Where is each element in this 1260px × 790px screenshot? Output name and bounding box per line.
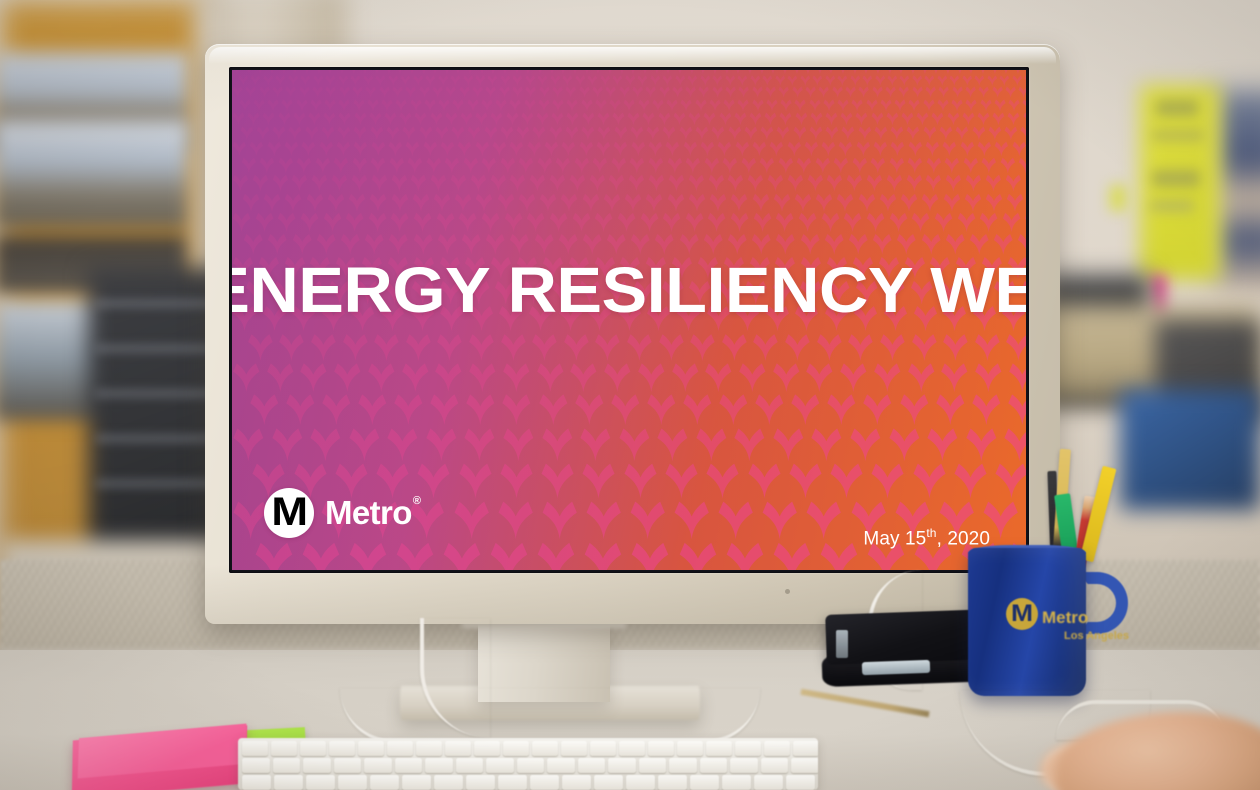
chevron-icon (549, 126, 563, 140)
chevron-icon (549, 174, 566, 192)
keyboard-key[interactable] (608, 758, 636, 773)
chevron-icon (1008, 99, 1020, 112)
chevron-icon (552, 99, 564, 112)
keyboard-key[interactable] (786, 775, 815, 790)
keyboard-key[interactable] (416, 741, 442, 756)
chevron-icon (642, 112, 655, 126)
chevron-icon (751, 233, 772, 255)
keyboard-key[interactable] (274, 775, 303, 790)
keyboard-key[interactable] (690, 775, 719, 790)
chevron-icon (772, 427, 805, 461)
chevron-icon (650, 75, 661, 86)
chevron-icon (267, 233, 288, 255)
chevron-icon (630, 126, 644, 140)
chevron-icon (460, 112, 473, 126)
chevron-icon (753, 212, 772, 232)
keyboard-key[interactable] (395, 758, 423, 773)
chevron-icon (744, 126, 758, 140)
chevron-icon (1020, 126, 1026, 140)
metro-m-glyph: M (272, 492, 306, 532)
chevron-icon (916, 112, 929, 126)
chevron-icon (470, 174, 487, 192)
chevron-icon (648, 174, 665, 192)
chevron-icon (351, 174, 368, 192)
chevron-icon (502, 362, 531, 392)
chevron-icon (818, 86, 829, 98)
chevron-icon (423, 141, 438, 156)
keyboard-key[interactable] (578, 758, 606, 773)
chevron-icon (1018, 157, 1026, 174)
chevron-icon (271, 427, 304, 461)
chevron-icon (815, 157, 831, 174)
chevron-icon (659, 86, 670, 98)
chevron-icon (292, 233, 313, 255)
chevron-icon (555, 157, 571, 174)
chevron-icon (267, 99, 279, 112)
chevron-icon (648, 157, 664, 174)
chevron-icon (539, 193, 557, 212)
chevron-icon (945, 174, 962, 192)
chevron-icon (331, 174, 348, 192)
chevron-icon (896, 70, 906, 74)
registered-trademark-icon: ® (413, 495, 421, 507)
chevron-icon (388, 75, 399, 86)
chevron-icon (885, 70, 895, 74)
chevron-icon (776, 126, 790, 140)
chevron-icon (849, 427, 882, 461)
chevron-icon (592, 157, 608, 174)
chevron-icon (810, 427, 843, 461)
keyboard-key[interactable] (594, 775, 623, 790)
chevron-icon (232, 174, 249, 192)
keyboard-key[interactable] (754, 775, 783, 790)
chevron-icon (1012, 141, 1026, 156)
mug-wordmark: Metro (1042, 608, 1088, 628)
keyboard-key[interactable] (486, 758, 514, 773)
chevron-icon (890, 126, 904, 140)
keyboard-key[interactable] (761, 758, 789, 773)
chevron-icon (688, 112, 701, 126)
chevron-icon (414, 112, 427, 126)
chevron-icon (843, 212, 862, 232)
chevron-icon (908, 99, 920, 112)
monitor-inner-frame: ENERGY RESILIENCY WEBCAST M Metro® May 1… (229, 67, 1029, 573)
keyboard-key[interactable] (242, 758, 270, 773)
chevron-icon (603, 362, 632, 392)
chevron-icon (582, 112, 595, 126)
chevron-icon (357, 393, 388, 425)
chevron-icon (870, 462, 905, 499)
chevron-icon (985, 193, 1003, 212)
chevron-icon (727, 174, 744, 192)
chevron-icon (829, 462, 864, 499)
chevron-icon (450, 174, 467, 192)
chevron-icon (880, 99, 892, 112)
keyboard-key[interactable] (561, 741, 587, 756)
chevron-icon (581, 462, 616, 499)
chevron-icon (705, 462, 740, 499)
chevron-icon (775, 233, 796, 255)
chevron-icon (708, 174, 725, 192)
chevron-icon (490, 174, 507, 192)
chevron-icon (648, 141, 663, 156)
chevron-icon (525, 86, 536, 98)
chevron-icon (481, 157, 497, 174)
chevron-icon (323, 112, 336, 126)
chevron-icon (778, 157, 794, 174)
keyboard-key[interactable] (334, 758, 362, 773)
chevron-icon (873, 141, 888, 156)
chevron-icon (703, 112, 716, 126)
chevron-row (232, 393, 1026, 425)
chevron-icon (790, 393, 821, 425)
chevron-icon (906, 126, 920, 140)
chevron-icon (738, 86, 749, 98)
chevron-icon (278, 112, 291, 126)
chevron-icon (695, 427, 728, 461)
chevron-icon (688, 193, 706, 212)
chevron-icon (300, 212, 319, 232)
keyboard-key[interactable] (364, 758, 392, 773)
chevron-icon (502, 427, 535, 461)
chevron-icon (733, 427, 766, 461)
chevron-icon (926, 157, 942, 174)
chevron-icon (747, 462, 782, 499)
keyboard-key[interactable] (242, 741, 268, 756)
chevron-icon (475, 112, 488, 126)
chevron-icon (278, 333, 305, 361)
chevron-icon (275, 75, 286, 86)
keyboard-key[interactable] (532, 741, 558, 756)
chevron-icon (370, 157, 386, 174)
chevron-icon (680, 99, 692, 112)
chevron-icon (399, 112, 412, 126)
chevron-icon (336, 141, 351, 156)
chevron-icon (342, 333, 369, 361)
chevron-icon (497, 193, 515, 212)
chevron-icon (695, 99, 707, 112)
chevron-icon (581, 126, 595, 140)
chevron-icon (589, 174, 606, 192)
chevron-icon (419, 70, 429, 74)
chevron-icon (467, 99, 479, 112)
chevron-icon (400, 75, 411, 86)
chevron-icon (866, 99, 878, 112)
chevron-icon (489, 541, 529, 570)
chevron-icon (687, 75, 698, 86)
chevron-icon (569, 362, 598, 392)
chevron-icon (974, 75, 985, 86)
chevron-icon (658, 333, 685, 361)
chevron-icon (370, 126, 384, 140)
chevron-icon (630, 541, 670, 570)
keyboard-key[interactable] (498, 775, 527, 790)
chevron-icon (1007, 112, 1020, 126)
chevron-icon (532, 126, 546, 140)
chevron-icon (290, 70, 300, 74)
chevron-icon (889, 157, 905, 174)
chevron-icon (272, 126, 286, 140)
chevron-icon (477, 70, 487, 74)
metro-wordmark: Metro® (325, 494, 419, 532)
chevron-icon (675, 75, 686, 86)
chevron-icon (935, 393, 966, 425)
chevron-icon (232, 112, 245, 126)
chevron-icon (1025, 70, 1026, 74)
chevron-icon (709, 193, 727, 212)
chevron-icon (256, 126, 270, 140)
keyboard-key[interactable] (562, 775, 591, 790)
keyboard-key[interactable] (648, 741, 674, 756)
keyboard-key[interactable] (626, 775, 655, 790)
chevron-icon (435, 126, 449, 140)
chevron-icon (832, 86, 843, 98)
chevron-icon (244, 70, 254, 74)
keyboard-key[interactable] (402, 775, 431, 790)
chevron-icon (846, 174, 863, 192)
chevron-icon (500, 157, 516, 174)
chevron-icon (305, 126, 319, 140)
chevron-icon (972, 126, 986, 140)
keyboard-key[interactable] (677, 741, 703, 756)
chevron-icon (662, 212, 681, 232)
keyboard-key[interactable] (764, 741, 790, 756)
keyboard-key[interactable] (434, 775, 463, 790)
keyboard-key[interactable] (358, 741, 384, 756)
chevron-icon (364, 233, 385, 255)
keyboard-key[interactable] (466, 775, 495, 790)
chevron-icon (765, 86, 776, 98)
chevron-icon (870, 157, 886, 174)
keyboard-key[interactable] (271, 741, 297, 756)
chevron-icon (775, 212, 794, 232)
chevron-icon (596, 141, 611, 156)
chevron-icon (704, 157, 720, 174)
chevron-icon (1024, 75, 1026, 86)
chevron-icon (373, 333, 400, 361)
keyboard-key[interactable] (706, 741, 732, 756)
chevron-icon (629, 500, 666, 539)
keyboard-key[interactable] (474, 741, 500, 756)
keyboard-key[interactable] (619, 741, 645, 756)
chevron-icon (1000, 157, 1016, 174)
chevron-icon (698, 86, 709, 98)
chevron-icon (388, 141, 403, 156)
chevron-icon (990, 70, 1000, 74)
chevron-row (232, 333, 1026, 361)
keyboard-key[interactable] (669, 758, 697, 773)
keyboard-key[interactable] (306, 775, 335, 790)
chevron-icon (245, 86, 256, 98)
chevron-icon (952, 86, 963, 98)
chevron-icon (873, 362, 902, 392)
chevron-icon (506, 112, 519, 126)
slide-date: May 15th, 2020 (863, 526, 990, 550)
chevron-icon (695, 126, 709, 140)
chevron-icon (663, 70, 673, 74)
chevron-icon (850, 75, 861, 86)
keyboard-key[interactable] (338, 775, 367, 790)
white-keyboard[interactable] (238, 738, 818, 790)
chevron-icon (566, 99, 578, 112)
keyboard-key[interactable] (300, 741, 326, 756)
chevron-icon (279, 70, 289, 74)
chevron-icon (324, 99, 336, 112)
chevron-icon (540, 462, 575, 499)
keyboard-key[interactable] (700, 758, 728, 773)
chevron-row (232, 99, 1026, 112)
chevron-icon (685, 212, 704, 232)
chevron-icon (536, 362, 565, 392)
chevron-icon (1008, 362, 1026, 392)
chevron-icon (465, 70, 475, 74)
chevron-icon (509, 233, 530, 255)
chevron-icon (668, 174, 685, 192)
chevron-icon (375, 75, 386, 86)
chevron-icon (803, 70, 813, 74)
chevron-icon (926, 427, 959, 461)
chevron-icon (1005, 86, 1016, 98)
chevron-icon (319, 141, 334, 156)
keyboard-key[interactable] (530, 775, 559, 790)
chevron-icon (962, 75, 973, 86)
chevron-icon (367, 99, 379, 112)
chevron-icon (333, 362, 362, 392)
chevron-icon (747, 174, 764, 192)
chevron-icon (354, 112, 367, 126)
keyboard-key[interactable] (503, 741, 529, 756)
chevron-icon (920, 70, 930, 74)
keyboard-key[interactable] (303, 758, 331, 773)
chevron-icon (410, 174, 427, 192)
chevron-icon (333, 157, 349, 174)
chevron-icon (350, 75, 361, 86)
chevron-icon (957, 212, 976, 232)
chevron-icon (291, 174, 308, 192)
chevron-icon (611, 157, 627, 174)
chevron-icon (253, 99, 265, 112)
keyboard-key[interactable] (590, 741, 616, 756)
chevron-icon (538, 99, 550, 112)
chevron-icon (698, 70, 708, 74)
chevron-icon (672, 86, 683, 98)
chevron-icon (612, 112, 625, 126)
chevron-icon (940, 362, 969, 392)
chevron-icon (472, 86, 483, 98)
keyboard-row[interactable] (242, 741, 818, 756)
chevron-icon (249, 393, 280, 425)
chevron-icon (638, 99, 650, 112)
chevron-icon (430, 70, 440, 74)
chevron-icon (391, 193, 409, 212)
chevron-icon (717, 500, 754, 539)
chevron-icon (962, 112, 975, 126)
chevron-icon (432, 86, 443, 98)
chevron-icon (719, 112, 732, 126)
chevron-icon (453, 500, 490, 539)
chevron-icon (923, 99, 935, 112)
keyboard-key[interactable] (370, 775, 399, 790)
chevron-icon (240, 126, 254, 140)
chevron-icon (805, 86, 816, 98)
chevron-icon (907, 157, 923, 174)
chevron-icon (906, 174, 923, 192)
keyboard-key[interactable] (445, 741, 471, 756)
chevron-icon (949, 75, 960, 86)
presentation-slide[interactable]: ENERGY RESILIENCY WEBCAST M Metro® May 1… (232, 70, 1026, 570)
chevron-icon (277, 212, 296, 232)
chevron-icon (942, 141, 957, 156)
chevron-icon (741, 157, 757, 174)
keyboard-key[interactable] (517, 758, 545, 773)
keyboard-row[interactable] (242, 775, 815, 790)
keyboard-key[interactable] (387, 741, 413, 756)
chevron-icon (994, 141, 1009, 156)
chevron-icon (656, 427, 689, 461)
keyboard-key[interactable] (793, 741, 818, 756)
chevron-icon (682, 393, 713, 425)
chevron-icon (412, 193, 430, 212)
chevron-icon (780, 70, 790, 74)
chevron-icon (434, 362, 463, 392)
chevron-icon (337, 126, 351, 140)
keyboard-key[interactable] (456, 758, 484, 773)
chevron-icon (735, 141, 750, 156)
chevron-icon (232, 141, 247, 156)
chevron-icon (561, 141, 576, 156)
chevron-icon (637, 362, 666, 392)
chevron-icon (819, 541, 859, 570)
keyboard-key[interactable] (791, 758, 818, 773)
chevron-icon (689, 333, 716, 361)
chevron-icon (700, 141, 715, 156)
keyboard-key[interactable] (273, 758, 301, 773)
chevron-icon (673, 500, 710, 539)
chevron-icon (353, 126, 367, 140)
chevron-icon (419, 126, 433, 140)
chevron-icon (436, 212, 455, 232)
chevron-icon (575, 75, 586, 86)
chevron-icon (605, 86, 616, 98)
chevron-icon (558, 233, 579, 255)
black-stapler (825, 609, 992, 665)
keyboard-key[interactable] (547, 758, 575, 773)
chevron-icon (966, 70, 976, 74)
chevron-icon (509, 99, 521, 112)
keyboard-key[interactable] (329, 741, 355, 756)
chevron-icon (301, 541, 341, 570)
keyboard-key[interactable] (658, 775, 687, 790)
chevron-icon (278, 157, 294, 174)
keyboard-key[interactable] (730, 758, 758, 773)
keyboard-row[interactable] (242, 758, 818, 773)
chevron-icon (232, 70, 242, 74)
keyboard-key[interactable] (735, 741, 761, 756)
chevron-icon (752, 333, 779, 361)
chevron-icon (907, 362, 936, 392)
chevron-icon (402, 126, 416, 140)
chevron-icon (833, 157, 849, 174)
chevron-icon (407, 157, 423, 174)
chevron-icon (840, 112, 853, 126)
chevron-icon (512, 70, 522, 74)
chevron-icon (500, 70, 510, 74)
keyboard-key[interactable] (242, 775, 271, 790)
keyboard-key[interactable] (722, 775, 751, 790)
keyboard-key[interactable] (639, 758, 667, 773)
keyboard-key[interactable] (425, 758, 453, 773)
chevron-icon (395, 541, 435, 570)
